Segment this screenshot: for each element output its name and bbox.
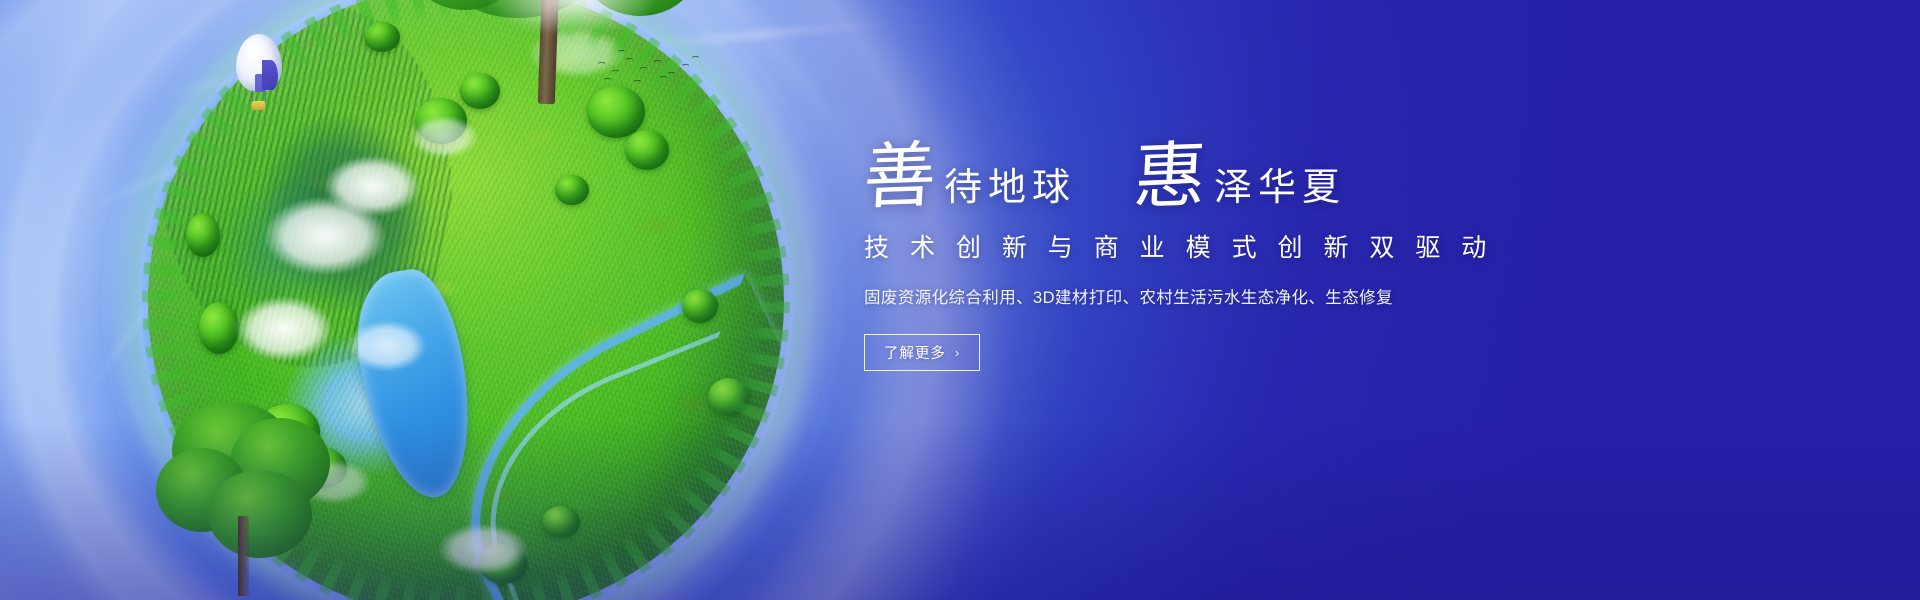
hero-banner: 善 待地球 惠 泽华夏 技 术 创 新 与 商 业 模 式 创 新 双 驱 动 … bbox=[0, 0, 1920, 600]
learn-more-button[interactable]: 了解更多 › bbox=[864, 334, 980, 371]
headline-text-zehuaxia: 泽华夏 bbox=[1214, 168, 1346, 212]
chevron-right-icon: › bbox=[955, 345, 960, 360]
headline-char-shan: 善 bbox=[862, 140, 938, 212]
headline-text-daidiqiu: 待地球 bbox=[944, 168, 1076, 212]
hero-headline: 善 待地球 惠 泽华夏 bbox=[862, 120, 1622, 212]
headline-char-hui: 惠 bbox=[1132, 140, 1208, 212]
hero-content: 善 待地球 惠 泽华夏 技 术 创 新 与 商 业 模 式 创 新 双 驱 动 … bbox=[862, 120, 1622, 371]
hero-description: 固废资源化综合利用、3D建材打印、农村生活污水生态净化、生态修复 bbox=[864, 284, 1622, 308]
hero-subtitle: 技 术 创 新 与 商 业 模 式 创 新 双 驱 动 bbox=[864, 228, 1622, 264]
learn-more-label: 了解更多 bbox=[884, 342, 946, 363]
sky-bottom-shade bbox=[0, 420, 1920, 600]
